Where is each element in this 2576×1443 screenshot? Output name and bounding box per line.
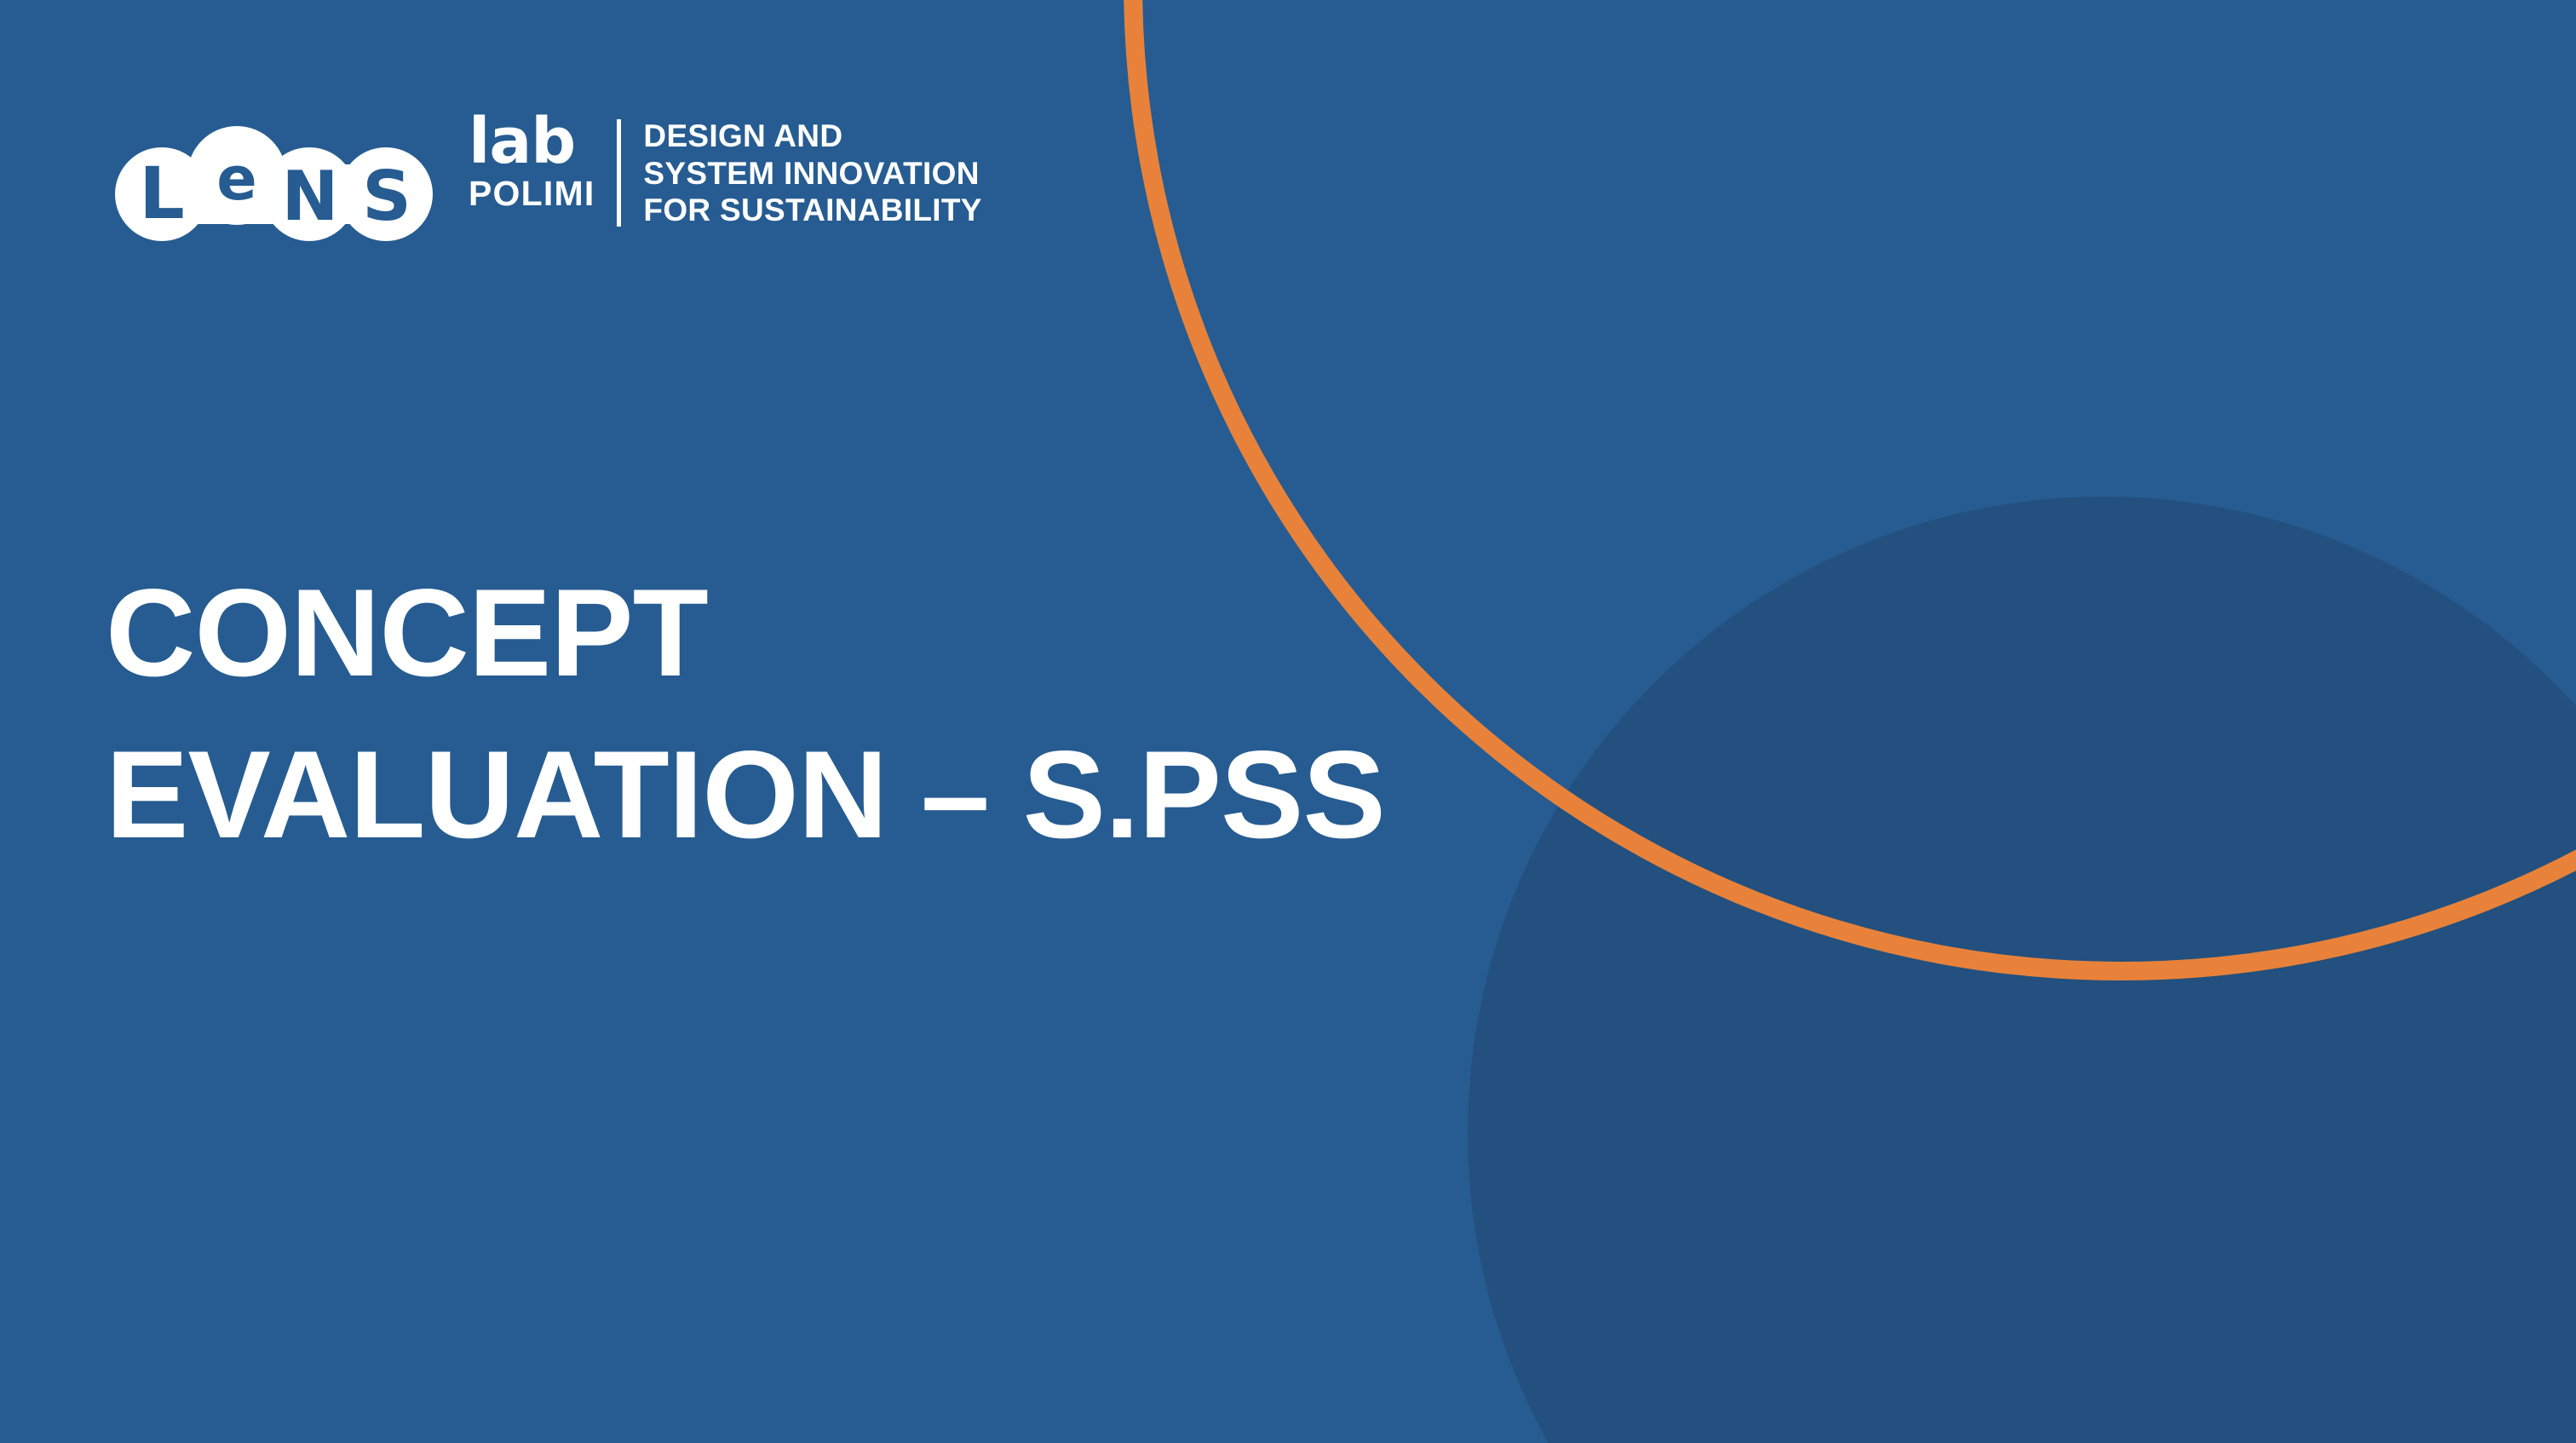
lab-label: lab bbox=[469, 116, 575, 168]
tagline-line-3: FOR SUSTAINABILITY bbox=[643, 192, 981, 229]
tagline-line-2: SYSTEM INNOVATION bbox=[643, 155, 981, 193]
slide-title: CONCEPT EVALUATION – S.PSS bbox=[106, 552, 1639, 876]
title-line-2: EVALUATION – S.PSS bbox=[106, 714, 1639, 876]
lens-wordmark-icon: L e N S bbox=[109, 118, 450, 245]
presentation-slide: L e N S lab POLIMI DESIGN AND SYSTEM INN… bbox=[0, 0, 2576, 1443]
lab-polimi-block: lab POLIMI bbox=[469, 116, 595, 211]
logo-divider bbox=[617, 119, 621, 227]
title-line-1: CONCEPT bbox=[106, 552, 1639, 714]
tagline-line-1: DESIGN AND bbox=[643, 118, 981, 155]
logo-tagline: DESIGN AND SYSTEM INNOVATION FOR SUSTAIN… bbox=[643, 118, 981, 229]
polimi-label: POLIMI bbox=[469, 176, 595, 211]
lens-lab-logo: L e N S lab POLIMI DESIGN AND SYSTEM INN… bbox=[109, 111, 982, 247]
